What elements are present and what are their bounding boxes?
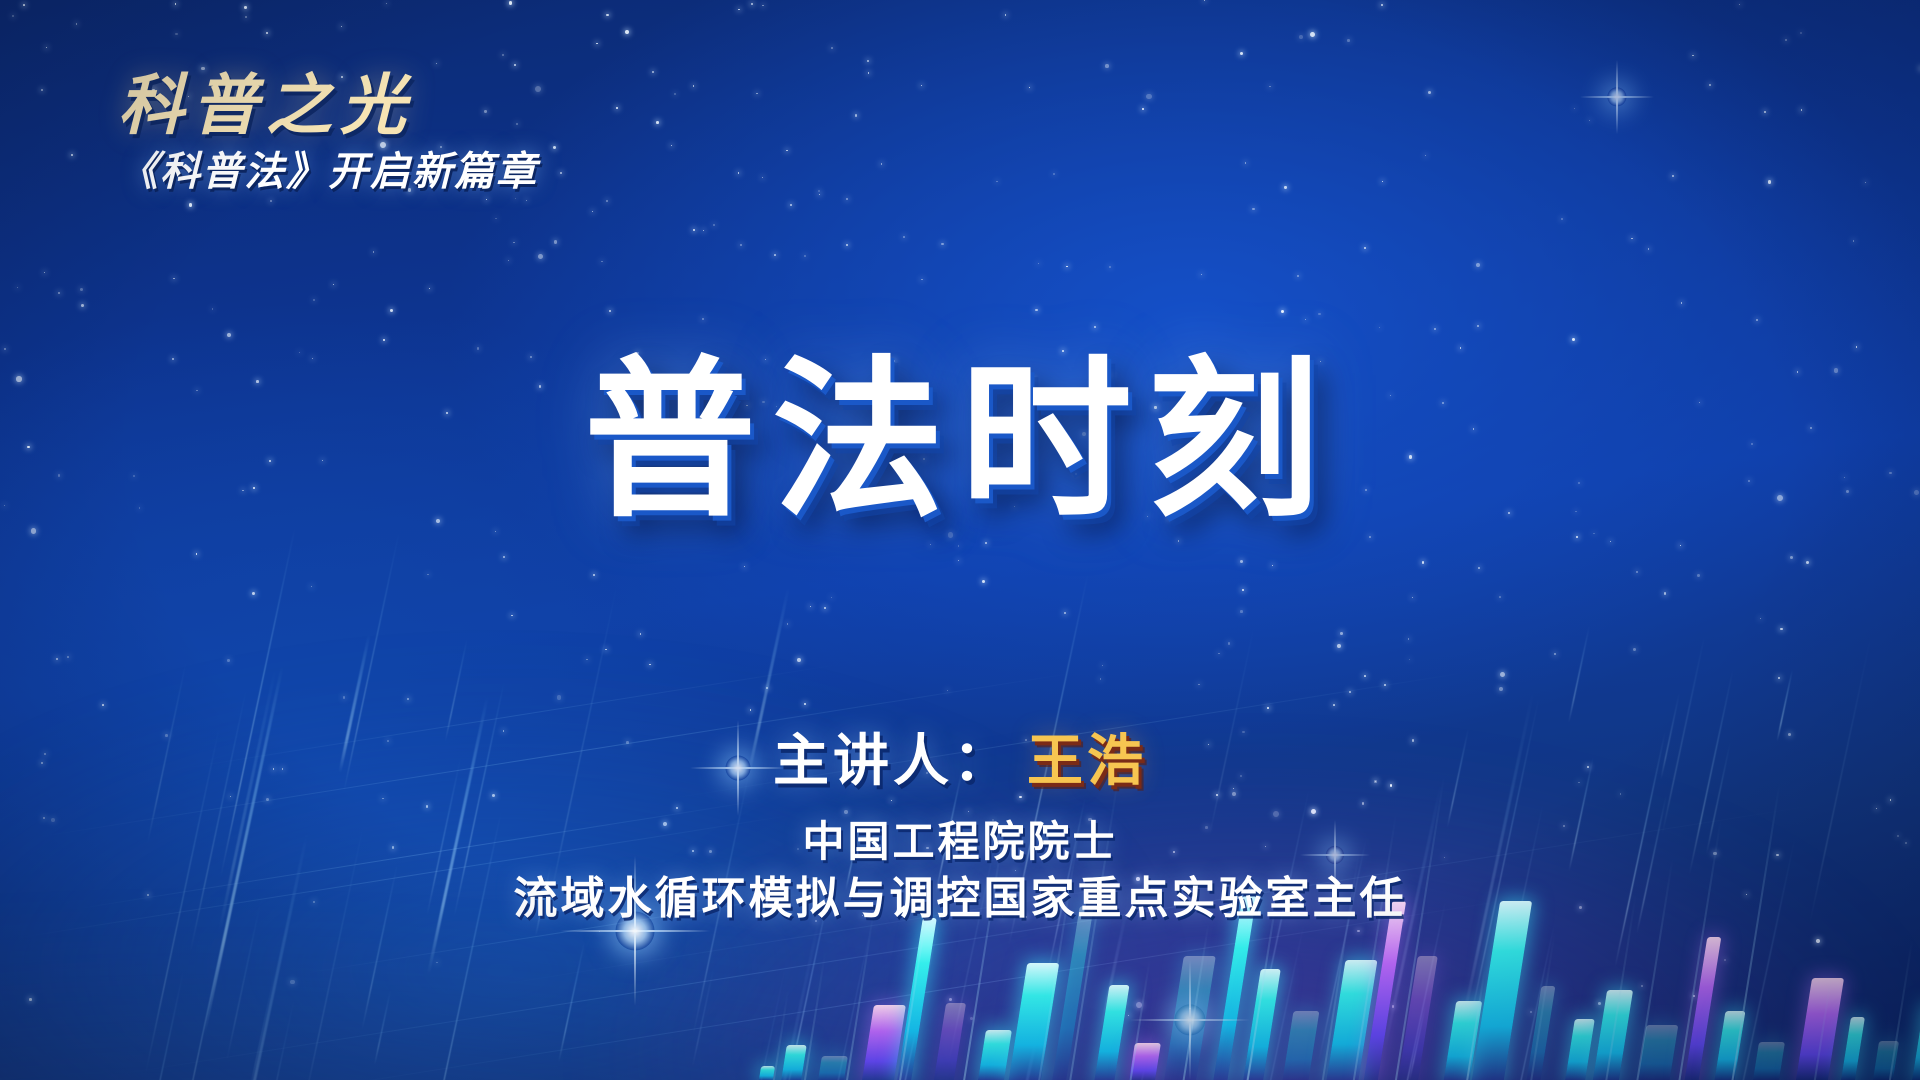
episode-title: 普法时刻 [584,355,1336,527]
speaker-label: 主讲人： [773,729,1013,792]
speaker-line: 主讲人：王浩 [0,716,1920,797]
title-card: 科普之光 《科普法》开启新篇章 普法时刻 主讲人：王浩 中国工程院院士 流域水循… [0,0,1920,1080]
star-flare-icon [1130,960,1250,1080]
star-flare-icon [1580,60,1654,134]
speaker-credential-2: 流域水循环模拟与调控国家重点实验室主任 [0,862,1920,926]
program-branding: 科普之光 《科普法》开启新篇章 [118,72,538,192]
series-title: 科普之光 [118,72,538,138]
speaker-credential-1: 中国工程院院士 [0,808,1920,869]
episode-title-block: 普法时刻 [0,355,1920,527]
series-subtitle: 《科普法》开启新篇章 [118,152,538,192]
speaker-name: 王浩 [1027,729,1147,792]
